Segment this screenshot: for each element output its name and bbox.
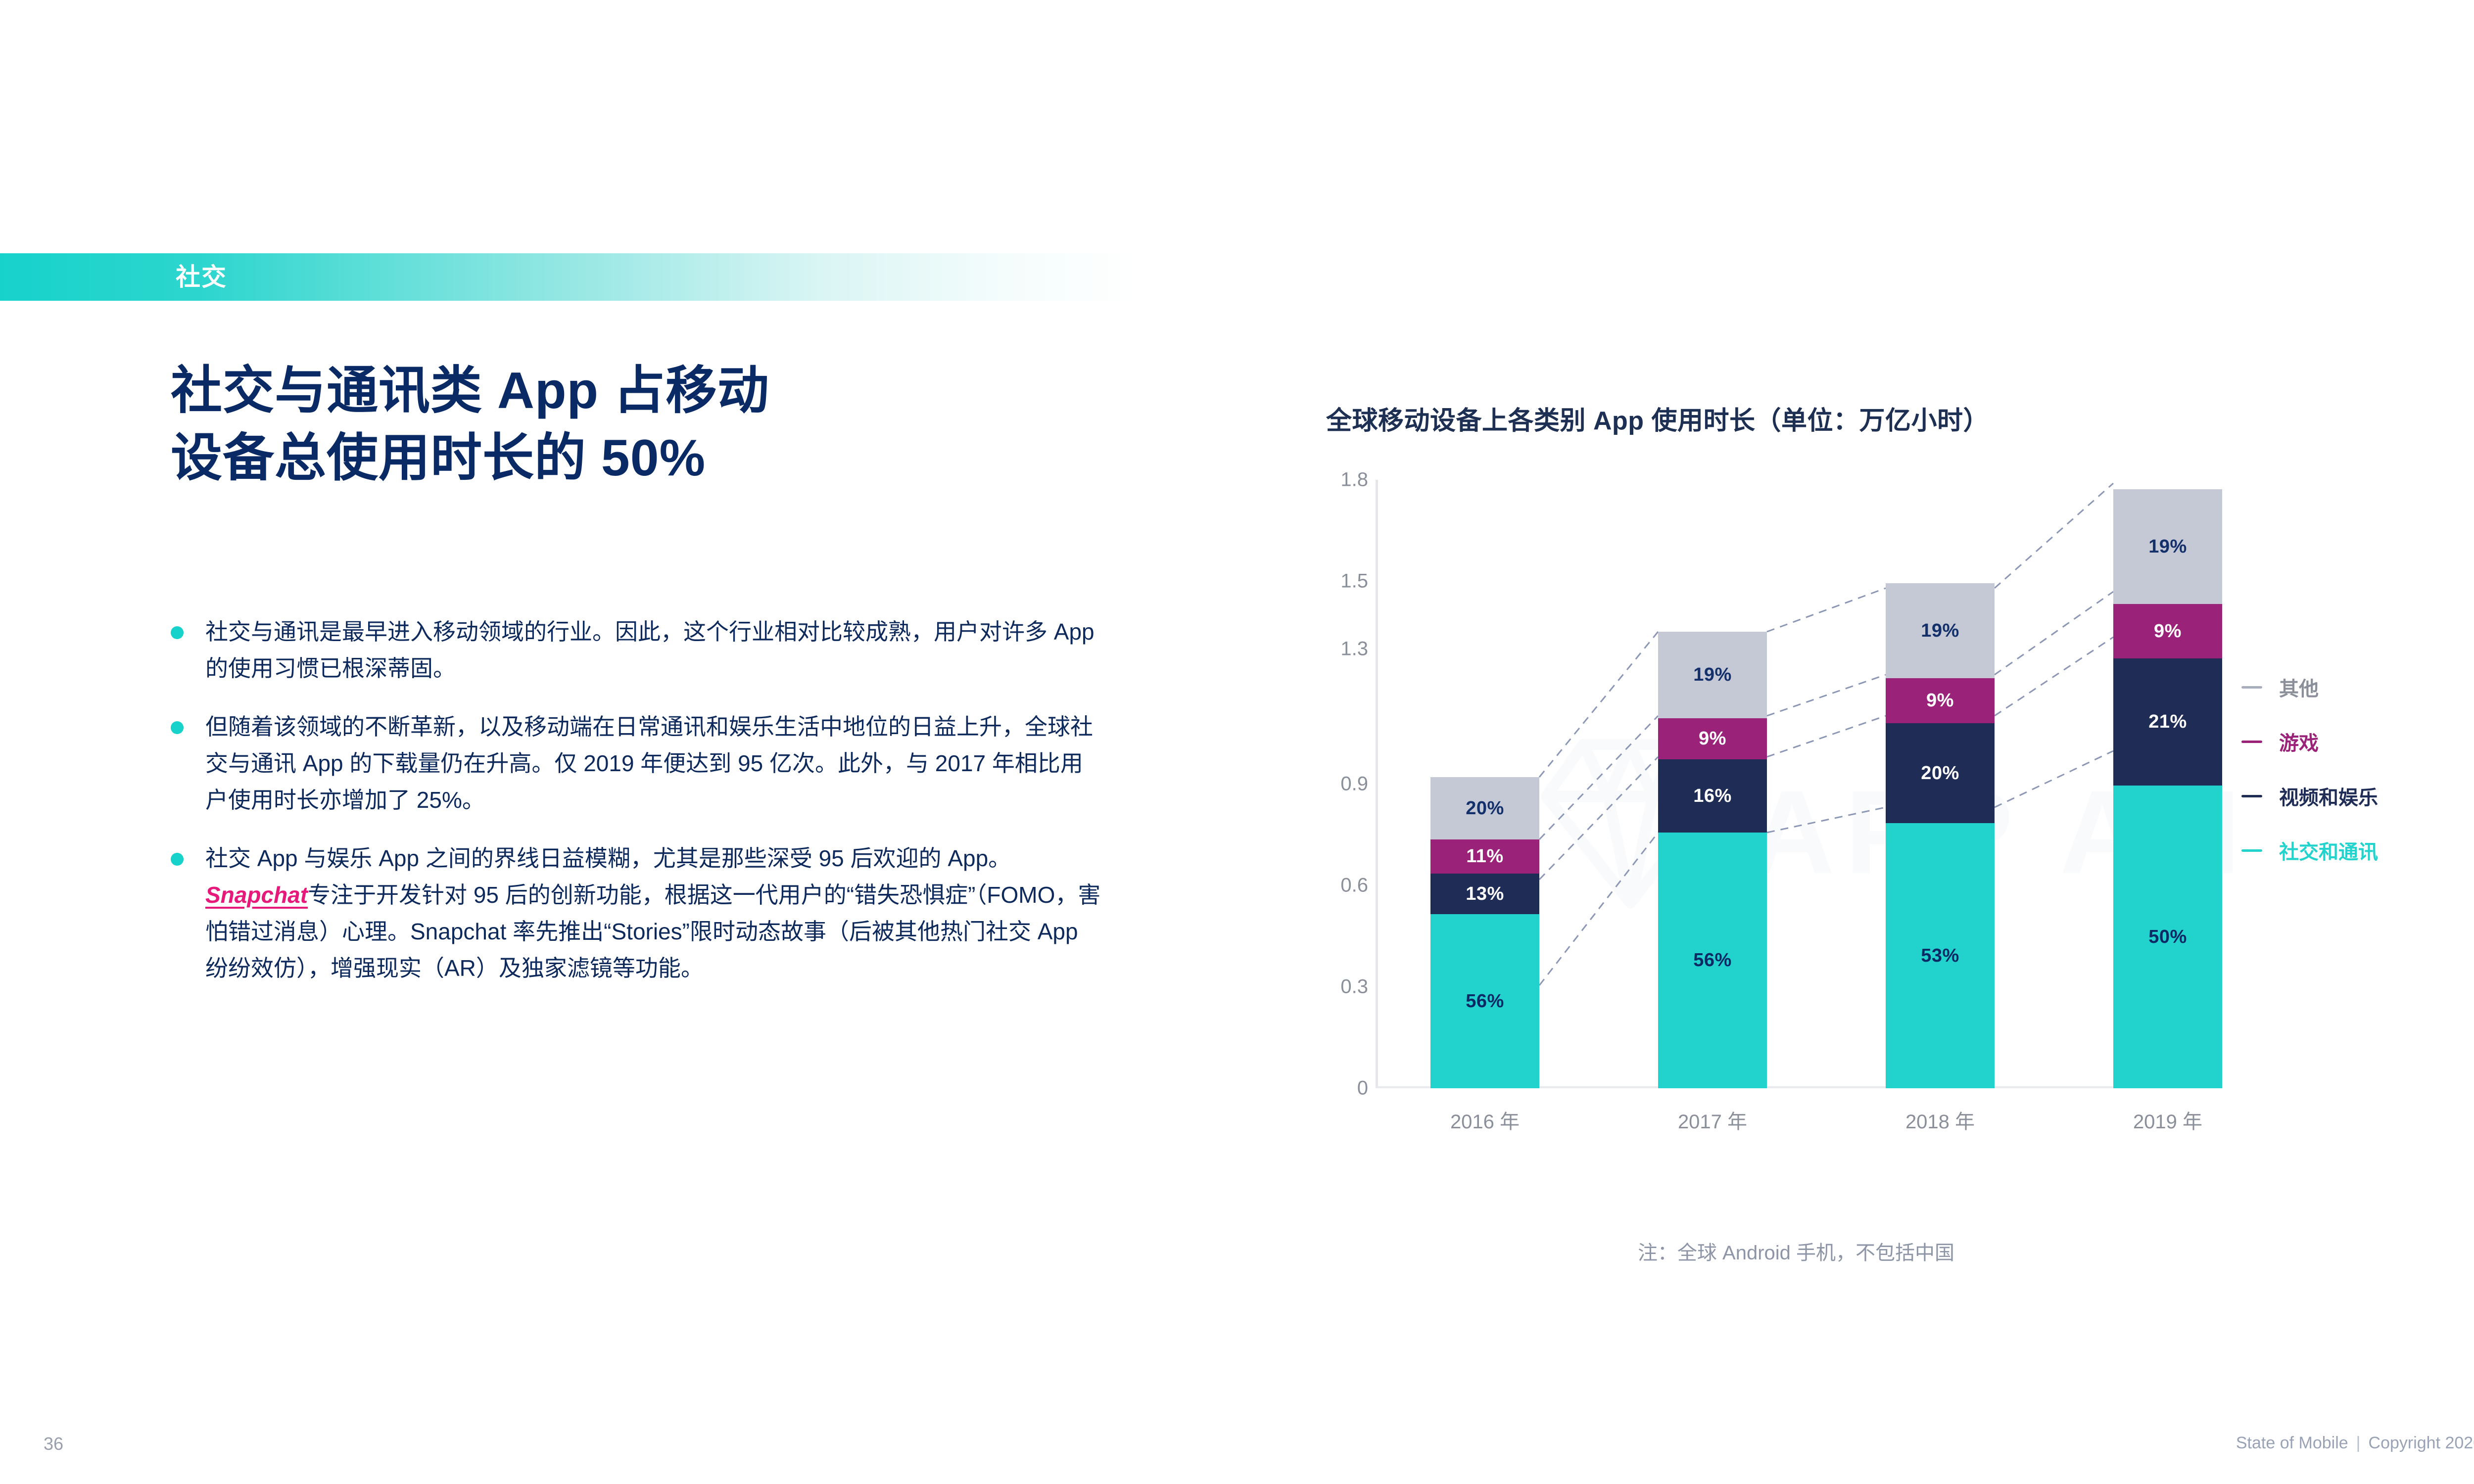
page-title-line-2: 设备总使用时长的 50%: [171, 424, 1111, 492]
legend-item-video[interactable]: 视频和娱乐: [2241, 782, 2474, 810]
x-tick-label-2019: 2019 年: [2064, 1106, 2272, 1134]
legend-item-games[interactable]: 游戏: [2241, 727, 2474, 756]
legend-swatch-video: [2241, 795, 2262, 797]
y-tick-label: 0.6: [1239, 875, 1368, 897]
bullet-dot-icon: [171, 853, 184, 866]
bar-segment-other: 19%: [2113, 489, 2222, 604]
legend-swatch-games: [2241, 741, 2262, 743]
list-item: 但随着该领域的不断革新，以及移动端在日常通讯和娱乐生活中地位的日益上升，全球社交…: [171, 708, 1101, 818]
bar-segment-social: 50%: [2113, 786, 2222, 1088]
y-tick-label: 0: [1239, 1077, 1368, 1100]
legend-swatch-other: [2241, 686, 2262, 689]
y-tick-label: 1.8: [1239, 469, 1368, 491]
footer-separator: |: [2348, 1434, 2369, 1452]
x-tick-label-2018: 2018 年: [1836, 1106, 2044, 1134]
bar-segment-other: 19%: [1886, 583, 1995, 678]
y-tick-label: 0.3: [1239, 976, 1368, 998]
bullet-text: 社交 App 与娱乐 App 之间的界线日益模糊，尤其是那些深受 95 后欢迎的…: [205, 840, 1101, 986]
y-tick-label: 1.3: [1239, 638, 1368, 660]
chart-title: 全球移动设备上各类别 App 使用时长（单位：万亿小时）: [1326, 400, 2365, 437]
list-item: 社交与通讯是最早进入移动领域的行业。因此，这个行业相对比较成熟，用户对许多 Ap…: [171, 613, 1101, 687]
bar-segment-games: 9%: [1886, 678, 1995, 723]
legend-label-social: 社交和通讯: [2279, 836, 2378, 865]
bar-segment-social: 56%: [1658, 833, 1767, 1088]
page-number: 36: [44, 1434, 63, 1454]
list-item: 社交 App 与娱乐 App 之间的界线日益模糊，尤其是那些深受 95 后欢迎的…: [171, 840, 1101, 986]
legend-item-other[interactable]: 其他: [2241, 673, 2474, 701]
page-title: 社交与通讯类 App 占移动 设备总使用时长的 50%: [171, 357, 1111, 492]
chart-plot-area: APP ANNIE 1.8 1.5 1.3 0.9 0.6 0.3 0: [1376, 480, 2217, 1088]
snapchat-link[interactable]: Snapchat: [205, 882, 308, 908]
bar-segment-video: 13%: [1430, 874, 1539, 914]
legend-swatch-social: [2241, 849, 2262, 852]
bar-2018: 19% 9% 20% 53%: [1886, 583, 1995, 1088]
bar-2016: 20% 11% 13% 56%: [1430, 777, 1539, 1088]
bar-segment-video: 16%: [1658, 759, 1767, 833]
bullet-text: 社交与通讯是最早进入移动领域的行业。因此，这个行业相对比较成熟，用户对许多 Ap…: [205, 613, 1101, 687]
x-tick-label-2017: 2017 年: [1609, 1106, 1816, 1134]
bullet-text-before-link: 社交 App 与娱乐 App 之间的界线日益模糊，尤其是那些深受 95 后欢迎的…: [205, 845, 1011, 871]
bar-segment-other: 19%: [1658, 632, 1767, 718]
bar-segment-video: 21%: [2113, 658, 2222, 786]
bar-segment-social: 53%: [1886, 823, 1995, 1088]
y-tick-label: 0.9: [1239, 773, 1368, 795]
bullet-list: 社交与通讯是最早进入移动领域的行业。因此，这个行业相对比较成熟，用户对许多 Ap…: [171, 613, 1101, 1008]
bullet-dot-icon: [171, 721, 184, 734]
bar-segment-games: 11%: [1430, 839, 1539, 874]
y-tick-label: 1.5: [1239, 570, 1368, 593]
footer-report-name: State of Mobile: [2236, 1434, 2348, 1452]
legend-label-games: 游戏: [2279, 727, 2319, 756]
bullet-dot-icon: [171, 626, 184, 639]
bar-segment-video: 20%: [1886, 723, 1995, 823]
bar-segment-social: 56%: [1430, 914, 1539, 1088]
bar-2019: 19% 9% 21% 50%: [2113, 489, 2222, 1088]
legend-item-social[interactable]: 社交和通讯: [2241, 836, 2474, 865]
legend-label-video: 视频和娱乐: [2279, 782, 2378, 810]
x-tick-label-2016: 2016 年: [1381, 1106, 1589, 1134]
page-title-line-1: 社交与通讯类 App 占移动: [171, 357, 1111, 424]
bar-2017: 19% 9% 16% 56%: [1658, 632, 1767, 1088]
chart-legend: 其他 游戏 视频和娱乐 社交和通讯: [2241, 673, 2474, 890]
section-eyebrow-band: [0, 253, 1138, 301]
bar-segment-other: 20%: [1430, 777, 1539, 839]
bullet-text: 但随着该领域的不断革新，以及移动端在日常通讯和娱乐生活中地位的日益上升，全球社交…: [205, 708, 1101, 818]
chart-container: 全球移动设备上各类别 App 使用时长（单位：万亿小时） APP ANNIE 1…: [1252, 396, 2474, 1336]
chart-footnote: 注：全球 Android 手机，不包括中国: [1376, 1237, 2217, 1265]
footer-copyright: Copyright 2020: [2369, 1434, 2474, 1452]
bar-segment-games: 9%: [1658, 718, 1767, 759]
bar-segment-games: 9%: [2113, 604, 2222, 658]
footer-credits: State of Mobile|Copyright 2020|App Annie: [2236, 1434, 2474, 1453]
slide-root: 社交 社交与通讯类 App 占移动 设备总使用时长的 50% 社交与通讯是最早进…: [0, 0, 2474, 1484]
bullet-text-after-link: 专注于开发针对 95 后的创新功能，根据这一代用户的“错失恐惧症”（FOMO，害…: [205, 882, 1100, 981]
section-eyebrow-label: 社交: [176, 261, 227, 293]
legend-label-other: 其他: [2279, 673, 2319, 701]
chart-y-axis: [1376, 480, 1378, 1088]
